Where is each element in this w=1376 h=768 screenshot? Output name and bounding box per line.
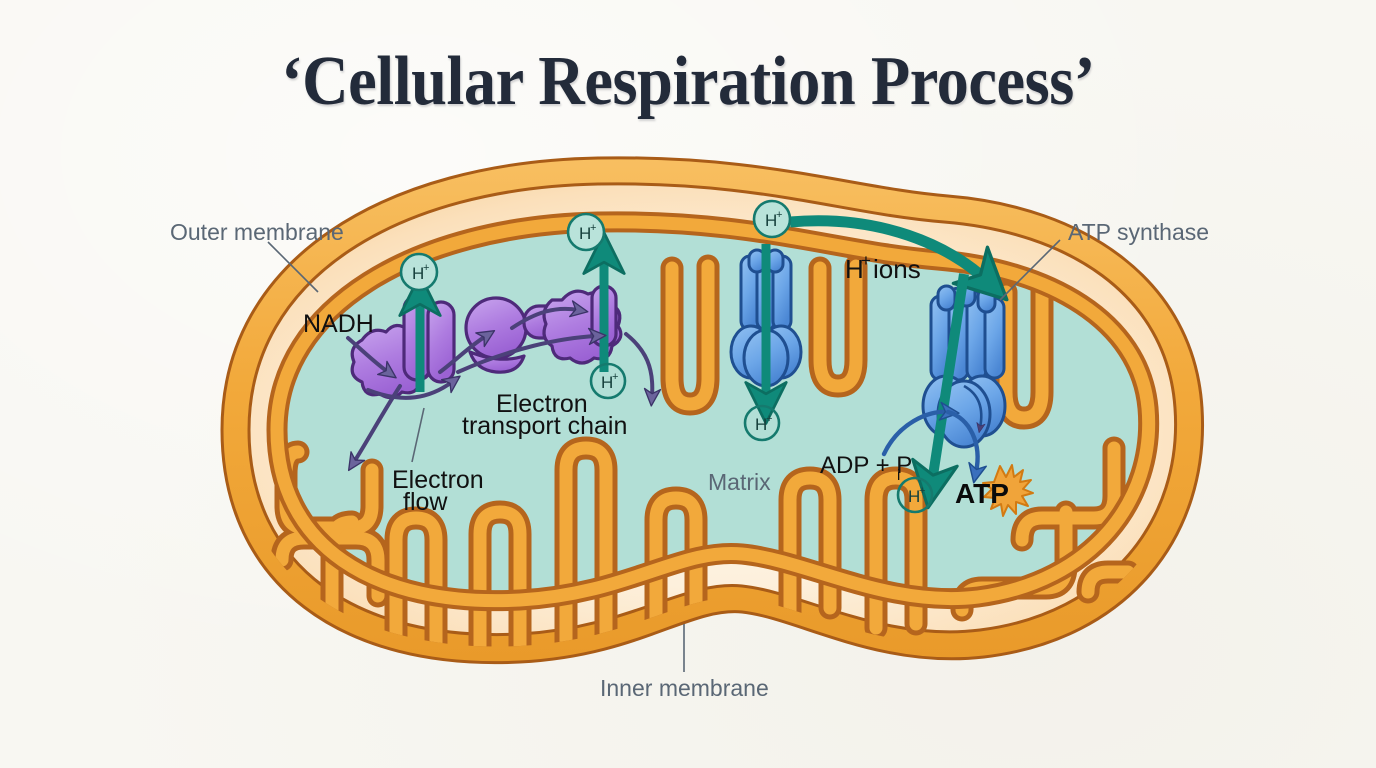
h-ions-word: ions bbox=[873, 254, 921, 284]
label-atp-synthase: ATP synthase bbox=[1068, 219, 1209, 245]
label-matrix: Matrix bbox=[708, 469, 771, 495]
adp-subscript: i bbox=[897, 467, 900, 484]
h-ions-plus: + bbox=[861, 251, 871, 270]
proton-circle-etc-right: H + bbox=[568, 214, 604, 250]
label-outer-membrane: Outer membrane bbox=[170, 219, 344, 245]
svg-text:+: + bbox=[919, 485, 925, 497]
svg-text:+: + bbox=[776, 209, 782, 221]
mitochondrion-diagram: H + H + H + H + H + bbox=[0, 0, 1376, 768]
label-nadh: NADH bbox=[303, 310, 374, 338]
svg-text:+: + bbox=[612, 371, 618, 383]
label-inner-membrane: Inner membrane bbox=[600, 675, 769, 701]
proton-circle-etc-left: H + bbox=[401, 254, 437, 290]
svg-text:+: + bbox=[590, 222, 596, 234]
proton-circle-middle-top: H + bbox=[754, 201, 790, 237]
svg-text:+: + bbox=[766, 413, 772, 425]
label-electron-flow-line2: flow bbox=[403, 488, 448, 516]
label-h-ions: H + ions bbox=[845, 251, 921, 284]
etc-complex-3 bbox=[466, 298, 526, 372]
label-atp: ATP bbox=[955, 478, 1009, 509]
svg-text:+: + bbox=[423, 262, 429, 274]
diagram-canvas: ‘Cellular Respiration Process’ bbox=[0, 0, 1376, 768]
label-etc-line2: transport chain bbox=[462, 412, 627, 440]
